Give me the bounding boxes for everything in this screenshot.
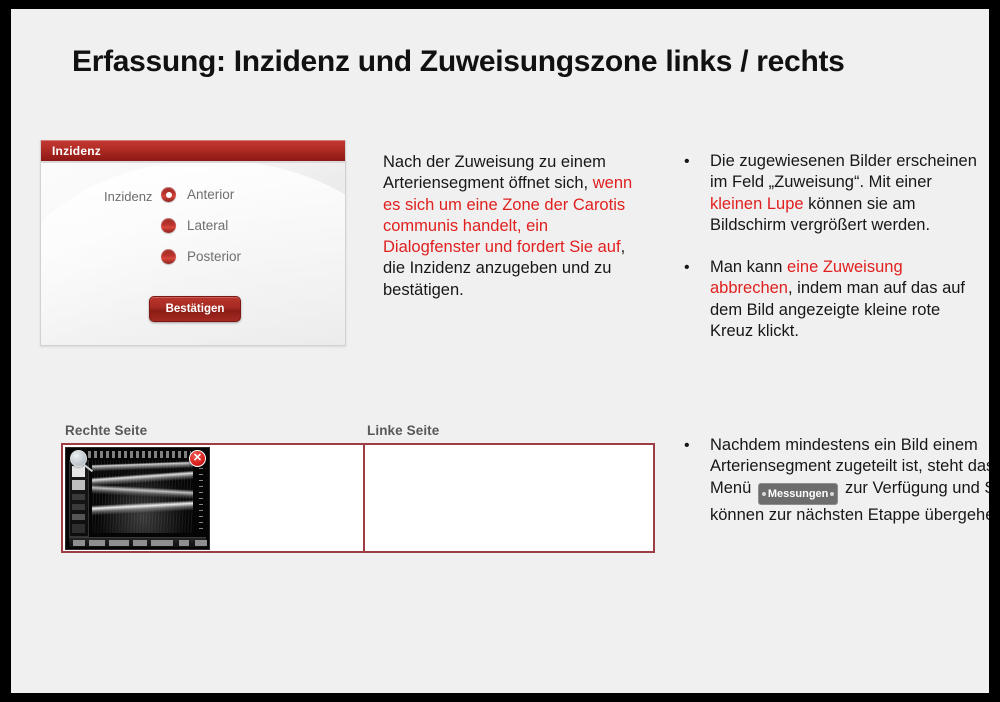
list-item: • Man kann eine Zuweisung abbrechen, ind… <box>683 257 983 342</box>
close-icon[interactable]: ✕ <box>189 450 206 467</box>
bullet-marker-icon: • <box>684 151 690 172</box>
bullet-marker-icon: • <box>684 435 690 456</box>
left-side-label: Linke Seite <box>367 423 439 438</box>
radio-label-posterior: Posterior <box>187 249 241 264</box>
ultrasound-footer-button <box>73 540 85 546</box>
dialog-title-label: Inzidenz <box>52 144 101 158</box>
bullet-list: • Die zugewiesenen Bilder erscheinen im … <box>683 151 983 342</box>
ultrasound-footer-button <box>179 540 189 546</box>
ultrasound-control <box>72 480 85 490</box>
ultrasound-footer-button <box>89 540 105 546</box>
bullet2-part-1: Man kann <box>710 258 787 276</box>
page-title: Erfassung: Inzidenz und Zuweisungszone l… <box>72 45 932 79</box>
incidence-field-label: Inzidenz <box>104 189 152 204</box>
messungen-menu-button[interactable]: Messungen <box>758 483 839 505</box>
paragraph-part-1: Nach der Zuweisung zu einem Arteriensegm… <box>383 153 606 192</box>
ultrasound-control <box>72 524 85 533</box>
ultrasound-control <box>72 504 85 510</box>
right-side-label: Rechte Seite <box>65 423 147 438</box>
radio-label-anterior: Anterior <box>187 187 234 202</box>
radio-option-posterior[interactable]: Posterior <box>161 249 241 264</box>
side-panels: Rechte Seite Linke Seite <box>61 423 655 555</box>
ultrasound-footer-button <box>133 540 147 546</box>
radio-dot-icon[interactable] <box>161 249 176 264</box>
titlebar-highlight <box>41 140 345 141</box>
slide-frame: Erfassung: Inzidenz und Zuweisungszone l… <box>0 0 1000 702</box>
ultrasound-image <box>92 460 193 533</box>
ultrasound-control <box>72 494 85 500</box>
confirm-button[interactable]: Bestätigen <box>149 296 241 322</box>
ultrasound-control <box>72 466 85 477</box>
ultrasound-footer-bar <box>69 537 206 547</box>
radio-option-lateral[interactable]: Lateral <box>161 218 228 233</box>
dialog-titlebar: Inzidenz <box>41 140 345 163</box>
bullet-marker-icon: • <box>684 257 690 278</box>
radio-dot-icon[interactable] <box>161 218 176 233</box>
list-item: • Nachdem mindestens ein Bild einem Arte… <box>683 435 989 527</box>
middle-paragraph: Nach der Zuweisung zu einem Arteriensegm… <box>383 152 645 301</box>
right-side-panel[interactable]: ✕ <box>61 443 365 553</box>
ultrasound-header-text <box>88 451 191 458</box>
ultrasound-footer-button <box>195 540 207 546</box>
bullet1-part-1: Die zugewiesenen Bilder erscheinen im Fe… <box>710 152 977 191</box>
ultrasound-depth-ruler <box>199 462 203 531</box>
inzidenz-dialog: Inzidenz Inzidenz Anterior Lateral Poste… <box>40 140 346 346</box>
radio-option-anterior[interactable]: Anterior <box>161 187 234 202</box>
list-item: • Die zugewiesenen Bilder erscheinen im … <box>683 151 983 236</box>
dialog-body: Inzidenz Anterior Lateral Posterior Best… <box>41 163 345 346</box>
ultrasound-sidebar <box>69 460 89 537</box>
radio-dot-icon[interactable] <box>161 187 176 202</box>
ultrasound-footer-button <box>151 540 173 546</box>
bullet1-highlight: kleinen Lupe <box>710 195 804 213</box>
radio-label-lateral: Lateral <box>187 218 228 233</box>
slide-canvas: Erfassung: Inzidenz und Zuweisungszone l… <box>11 9 989 693</box>
ultrasound-thumbnail[interactable]: ✕ <box>65 447 210 550</box>
ultrasound-control <box>72 514 85 520</box>
left-side-panel[interactable] <box>363 443 655 553</box>
ultrasound-footer-button <box>109 540 129 546</box>
